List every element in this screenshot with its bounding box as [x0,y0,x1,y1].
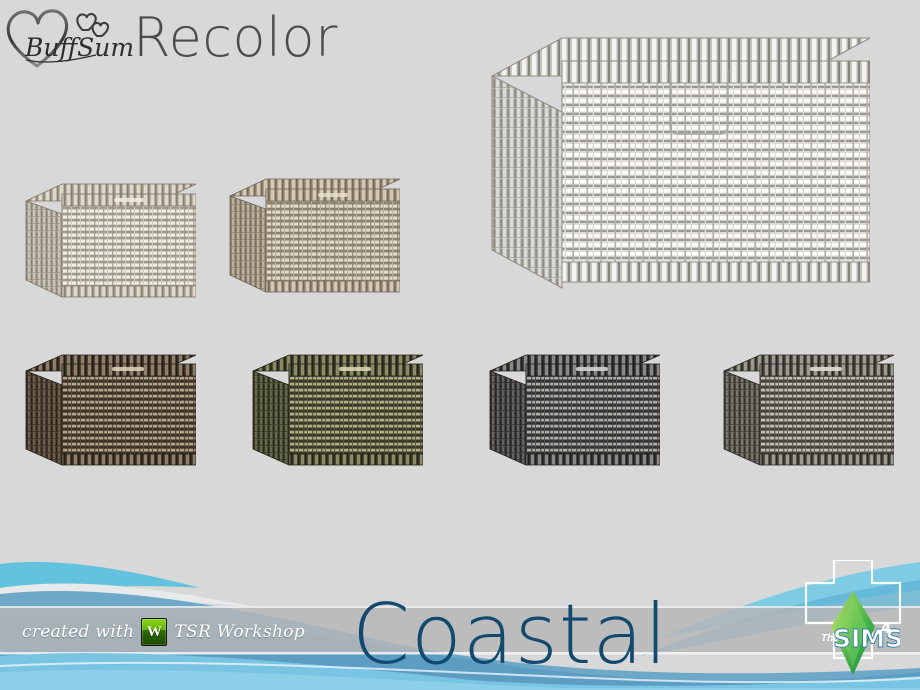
tsr-workshop-badge-icon: W [141,618,167,646]
logo-script-text: BuffSumm [24,33,136,62]
credit-suffix-label: TSR Workshop [174,622,305,642]
credit-line: created with W TSR Workshop [22,618,305,646]
screenshot-canvas: BuffSumm Recolor [0,0,920,690]
buffsumm-logo: BuffSumm [4,4,136,76]
basket-swatch-3-featured[interactable] [482,18,870,300]
basket-swatch-6[interactable] [482,341,660,467]
basket-swatch-7[interactable] [716,341,894,467]
sims4-number-label: 4 [881,619,891,637]
credit-prefix-label: created with [22,622,134,642]
basket-swatch-1[interactable] [18,168,196,300]
basket-swatch-5[interactable] [245,341,423,467]
page-title: Recolor [133,6,338,69]
basket-swatch-4[interactable] [18,341,196,467]
basket-swatch-2[interactable] [222,163,400,295]
sims4-logo: The SIMS 4 [805,583,900,683]
set-title: Coastal [352,593,668,676]
